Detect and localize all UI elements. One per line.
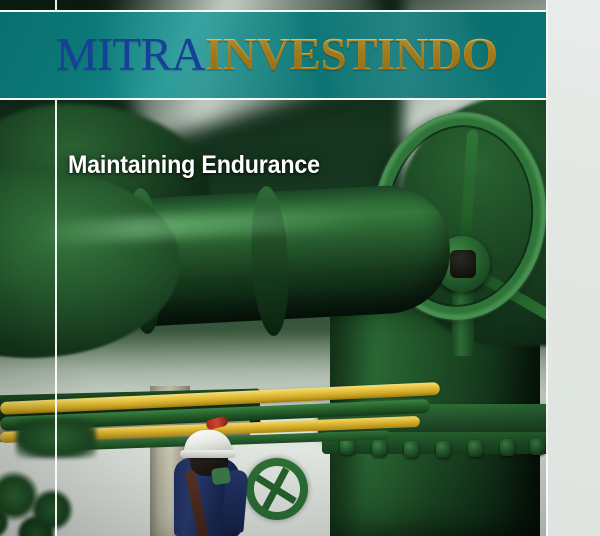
logo-text-mitra: MITRA (56, 29, 205, 81)
logo-banner: MITRAINVESTINDO (0, 10, 546, 100)
right-margin-band (548, 0, 600, 536)
worker (172, 424, 252, 536)
cover-tagline: Maintaining Endurance (68, 151, 320, 180)
vertical-rule-right (546, 0, 548, 536)
flange-bolt (468, 440, 483, 457)
flange-bolt (372, 440, 387, 457)
flange-bolt (404, 441, 419, 458)
report-cover: MITRAINVESTINDO Maintaining Endurance (0, 0, 600, 536)
flange-bolt (500, 439, 515, 456)
flange-bolt (436, 441, 451, 458)
handwheel-nut (450, 250, 476, 278)
worker-collar (211, 467, 231, 485)
logo-text-investindo: INVESTINDO (205, 29, 498, 81)
company-logo: MITRAINVESTINDO (56, 32, 498, 79)
worker-hard-hat-brim (180, 450, 236, 458)
foliage-front (0, 452, 130, 536)
flange-bolt (530, 438, 545, 455)
